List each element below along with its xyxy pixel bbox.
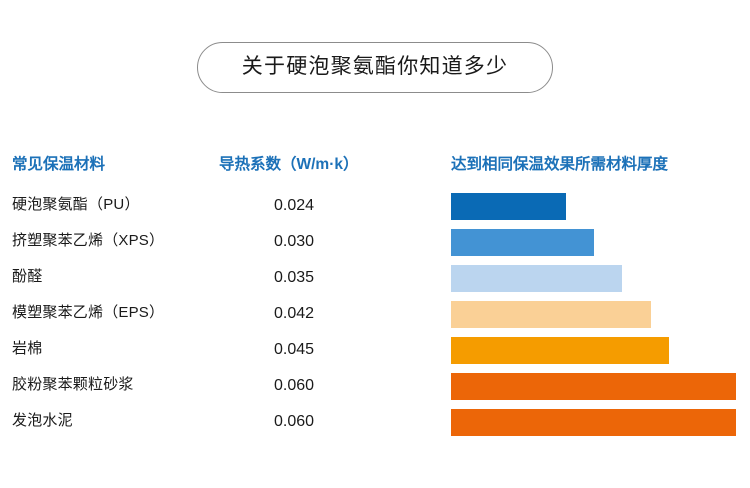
conductivity-value: 0.060 — [274, 412, 314, 431]
material-name: 胶粉聚苯颗粒砂浆 — [12, 376, 134, 394]
conductivity-value: 0.030 — [274, 232, 314, 251]
title-pill: 关于硬泡聚氨酯你知道多少 — [197, 42, 553, 93]
material-name: 挤塑聚苯乙烯（XPS） — [12, 232, 164, 250]
thickness-bar — [451, 301, 651, 328]
data-rows: 硬泡聚氨酯（PU）0.024挤塑聚苯乙烯（XPS）0.030酚醛0.035模塑聚… — [0, 192, 750, 444]
thickness-bar — [451, 265, 622, 292]
conductivity-value: 0.042 — [274, 304, 314, 323]
title-container: 关于硬泡聚氨酯你知道多少 — [0, 42, 750, 93]
thickness-bar-track — [451, 409, 736, 436]
thickness-bar — [451, 337, 669, 364]
conductivity-value: 0.024 — [274, 196, 314, 215]
insulation-materials-infographic: 关于硬泡聚氨酯你知道多少 常见保温材料 导热系数（W/m·k） 达到相同保温效果… — [0, 0, 750, 488]
table-row: 胶粉聚苯颗粒砂浆0.060 — [0, 372, 750, 408]
thickness-bar-track — [451, 265, 736, 292]
table-row: 模塑聚苯乙烯（EPS）0.042 — [0, 300, 750, 336]
material-name: 岩棉 — [12, 340, 42, 358]
material-name: 发泡水泥 — [12, 412, 73, 430]
table-row: 酚醛0.035 — [0, 264, 750, 300]
conductivity-value: 0.045 — [274, 340, 314, 359]
footer-spacer — [0, 448, 750, 488]
conductivity-value: 0.060 — [274, 376, 314, 395]
material-name: 酚醛 — [12, 268, 42, 286]
thickness-bar-track — [451, 193, 736, 220]
thickness-bar — [451, 193, 566, 220]
thickness-bar — [451, 373, 736, 400]
thickness-bar — [451, 229, 594, 256]
column-header-thickness: 达到相同保温效果所需材料厚度 — [451, 157, 668, 173]
table-row: 发泡水泥0.060 — [0, 408, 750, 444]
thickness-bar-track — [451, 301, 736, 328]
material-name: 硬泡聚氨酯（PU） — [12, 196, 140, 214]
thickness-bar-track — [451, 229, 736, 256]
thickness-bar-track — [451, 373, 736, 400]
table-row: 岩棉0.045 — [0, 336, 750, 372]
column-header-conductivity: 导热系数（W/m·k） — [219, 157, 359, 173]
conductivity-value: 0.035 — [274, 268, 314, 287]
page-title: 关于硬泡聚氨酯你知道多少 — [242, 56, 508, 77]
material-name: 模塑聚苯乙烯（EPS） — [12, 304, 164, 322]
thickness-bar-track — [451, 337, 736, 364]
column-header-material: 常见保温材料 — [12, 157, 105, 173]
table-row: 挤塑聚苯乙烯（XPS）0.030 — [0, 228, 750, 264]
table-row: 硬泡聚氨酯（PU）0.024 — [0, 192, 750, 228]
column-headers: 常见保温材料 导热系数（W/m·k） 达到相同保温效果所需材料厚度 — [0, 155, 750, 181]
thickness-bar — [451, 409, 736, 436]
